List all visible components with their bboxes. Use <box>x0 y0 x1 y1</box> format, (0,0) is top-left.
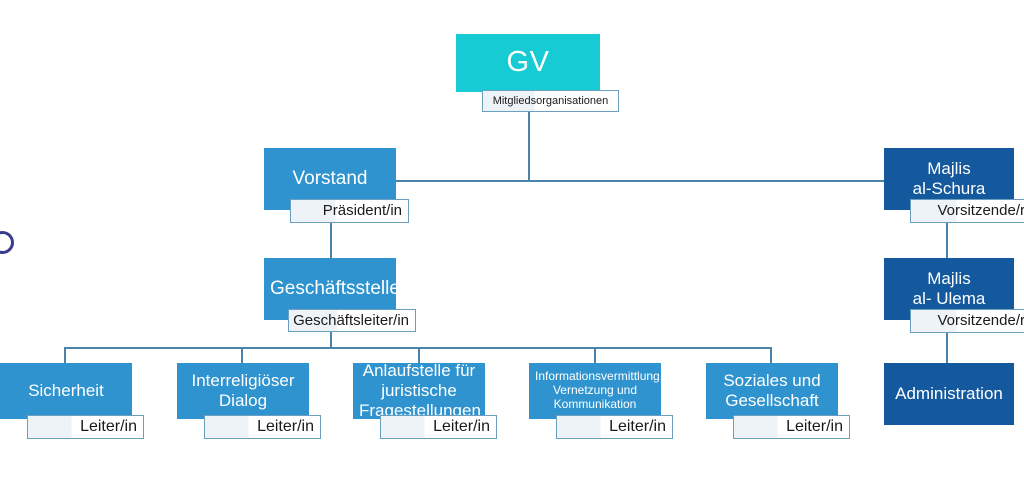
role-gv-label: Mitgliedsorganisationen <box>493 95 609 107</box>
node-majlis-al-ulema-label-line1: Majlis <box>890 269 1008 289</box>
role-gv[interactable]: Mitgliedsorganisationen <box>482 90 619 112</box>
role-department-interreligioeser-dialog-label: Leiter/in <box>257 418 314 436</box>
node-department-soziales-gesellschaft-label: Soziales und Gesellschaft <box>712 371 832 410</box>
node-majlis-al-schura-label-line1: Majlis <box>890 159 1008 179</box>
role-majlis-al-ulema-label: Vorsitzende/r <box>937 312 1024 329</box>
connector-drop-dept-1 <box>64 347 66 364</box>
connector-drop-dept-5 <box>770 347 772 364</box>
role-vorstand[interactable]: Präsident/in <box>290 199 409 223</box>
edge-marker-icon <box>0 231 14 254</box>
connector-drop-dept-4 <box>594 347 596 364</box>
node-majlis-al-schura-label-line2: al-Schura <box>890 179 1008 199</box>
role-department-soziales-gesellschaft[interactable]: Leiter/in <box>733 415 850 439</box>
role-department-informationsvermittlung-vernetzung-kommunikation[interactable]: Leiter/in <box>556 415 673 439</box>
role-department-sicherheit[interactable]: Leiter/in <box>27 415 144 439</box>
node-department-informationsvermittlung-vernetzung-kommunikation[interactable]: Informationsvermittlung, Vernetzung und … <box>529 363 661 419</box>
role-department-anlaufstelle-juristische-fragestellungen-label: Leiter/in <box>433 418 490 436</box>
node-gv[interactable]: GV <box>456 34 600 92</box>
connector-drop-dept-2 <box>241 347 243 364</box>
node-gv-label: GV <box>462 46 594 80</box>
node-department-informationsvermittlung-vernetzung-kommunikation-label: Informationsvermittlung, Vernetzung und … <box>535 370 655 412</box>
node-majlis-al-ulema-label-line2: al- Ulema <box>890 289 1008 309</box>
role-majlis-al-schura[interactable]: Vorsitzende/r <box>910 199 1024 223</box>
connector-gv-down <box>528 110 530 181</box>
node-department-interreligioeser-dialog-label: Interreligiöser Dialog <box>183 371 303 410</box>
role-majlis-al-schura-label: Vorsitzende/r <box>937 202 1024 219</box>
org-chart-canvas: GV Mitgliedsorganisationen Vorstand Präs… <box>0 0 1024 491</box>
node-administration[interactable]: Administration <box>884 363 1014 425</box>
role-geschaeftsstelle[interactable]: Geschäftsleiter/in <box>288 309 416 332</box>
node-administration-label: Administration <box>890 384 1008 404</box>
node-geschaeftsstelle-label: Geschäftsstelle <box>270 278 390 300</box>
node-department-sicherheit-label: Sicherheit <box>6 381 126 401</box>
node-department-interreligioeser-dialog[interactable]: Interreligiöser Dialog <box>177 363 309 419</box>
node-department-anlaufstelle-juristische-fragestellungen[interactable]: Anlaufstelle für juristische Fragestellu… <box>353 363 485 419</box>
role-department-anlaufstelle-juristische-fragestellungen[interactable]: Leiter/in <box>380 415 497 439</box>
node-department-soziales-gesellschaft[interactable]: Soziales und Gesellschaft <box>706 363 838 419</box>
role-department-interreligioeser-dialog[interactable]: Leiter/in <box>204 415 321 439</box>
role-majlis-al-ulema[interactable]: Vorsitzende/r <box>910 309 1024 333</box>
role-department-soziales-gesellschaft-label: Leiter/in <box>786 418 843 436</box>
role-vorstand-label: Präsident/in <box>323 202 402 219</box>
connector-bus-top <box>396 180 884 182</box>
role-department-sicherheit-label: Leiter/in <box>80 418 137 436</box>
node-department-anlaufstelle-juristische-fragestellungen-label: Anlaufstelle für juristische Fragestellu… <box>359 361 479 420</box>
node-department-sicherheit[interactable]: Sicherheit <box>0 363 132 419</box>
role-geschaeftsstelle-label: Geschäftsleiter/in <box>293 312 409 329</box>
role-department-informationsvermittlung-vernetzung-kommunikation-label: Leiter/in <box>609 418 666 436</box>
node-vorstand-label: Vorstand <box>270 168 390 190</box>
